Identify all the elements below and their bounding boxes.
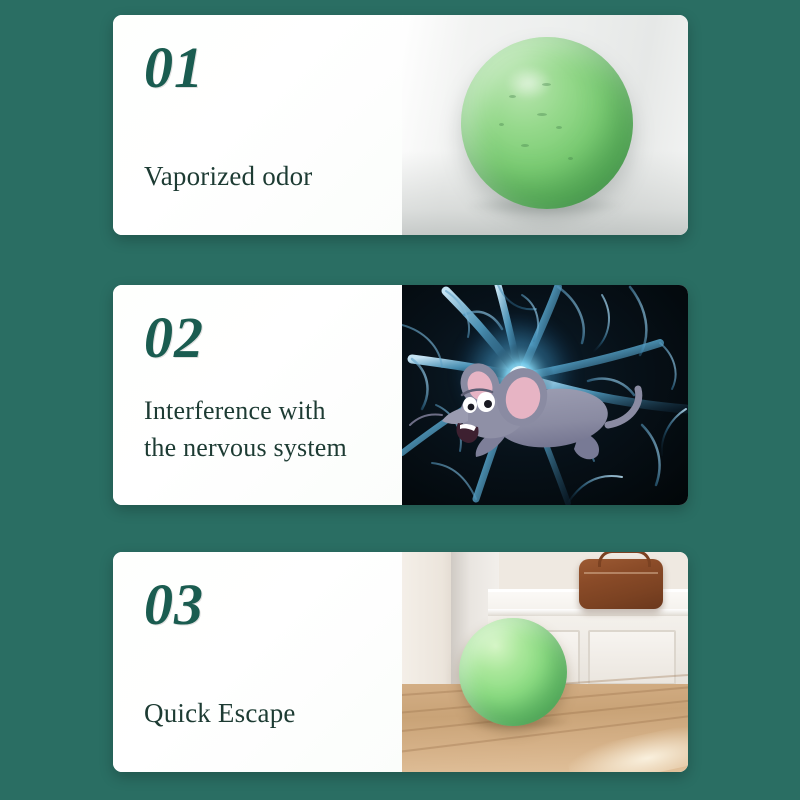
feature-card-02-text-panel: 02 Interference with the nervous system bbox=[113, 285, 402, 505]
feature-card-03-text-panel: 03 Quick Escape bbox=[113, 552, 402, 772]
bag-zipper bbox=[584, 572, 658, 574]
feature-card-01-text-panel: 01 Vaporized odor bbox=[113, 15, 402, 235]
feature-number-03: 03 bbox=[144, 576, 204, 634]
brown-leather-bag bbox=[579, 559, 663, 609]
bag-handle bbox=[598, 552, 651, 567]
feature-card-02[interactable]: 02 Interference with the nervous system bbox=[113, 285, 688, 505]
green-repellent-ball-product-photo bbox=[402, 15, 688, 235]
cabinet-top-lip bbox=[488, 609, 688, 616]
feature-card-03[interactable]: 03 Quick Escape bbox=[113, 552, 688, 772]
feature-card-01[interactable]: 01 Vaporized odor bbox=[113, 15, 688, 235]
neuron-network-with-cartoon-mouse bbox=[402, 285, 688, 505]
ball-speck bbox=[537, 113, 547, 116]
ball-speck bbox=[556, 126, 562, 129]
cartoon-mouse bbox=[402, 285, 688, 505]
sunlight-patch bbox=[565, 724, 688, 772]
feature-label-02: Interference with the nervous system bbox=[144, 393, 347, 467]
ball-speck bbox=[499, 123, 504, 126]
feature-number-01: 01 bbox=[144, 39, 204, 97]
feature-label-03: Quick Escape bbox=[144, 694, 296, 732]
ball-speck bbox=[521, 144, 529, 147]
green-ball bbox=[461, 37, 633, 209]
ball-speck bbox=[568, 157, 573, 160]
green-ball bbox=[459, 618, 567, 726]
product-feature-poster: 01 Vaporized odor 02 Interference with t… bbox=[0, 0, 800, 800]
feature-number-02: 02 bbox=[144, 309, 204, 367]
ball-speck bbox=[509, 95, 516, 98]
green-ball-on-wooden-floor-in-room bbox=[402, 552, 688, 772]
feature-label-01: Vaporized odor bbox=[144, 157, 313, 195]
